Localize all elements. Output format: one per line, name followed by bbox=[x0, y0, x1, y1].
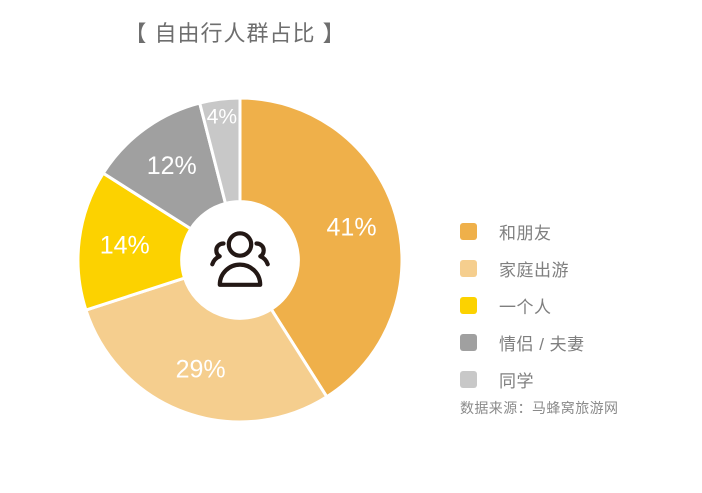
legend-item-label: 情侣 / 夫妻 bbox=[499, 330, 585, 355]
slice-value-label: 41% bbox=[327, 214, 377, 242]
legend-swatch-icon bbox=[460, 223, 477, 240]
slice-value-label: 12% bbox=[147, 152, 197, 180]
legend-item-label: 同学 bbox=[499, 367, 534, 392]
slice-value-label: 4% bbox=[207, 105, 237, 128]
legend-swatch-icon bbox=[460, 260, 477, 277]
legend-item-label: 家庭出游 bbox=[499, 256, 569, 281]
legend-swatch-icon bbox=[460, 297, 477, 314]
slice-value-label: 29% bbox=[176, 355, 226, 383]
donut-center-hub bbox=[182, 202, 298, 318]
legend: 和朋友家庭出游一个人情侣 / 夫妻同学 bbox=[460, 213, 690, 398]
source-note: 数据来源：马蜂窝旅游网 bbox=[460, 398, 618, 418]
legend-item-label: 一个人 bbox=[499, 293, 552, 318]
legend-item[interactable]: 情侣 / 夫妻 bbox=[460, 324, 690, 361]
legend-swatch-icon bbox=[460, 371, 477, 388]
slice-value-label: 14% bbox=[100, 231, 150, 259]
chart-canvas: 【 自由行人群占比 】 41%29%14%12%4% 和朋友家庭出游一个 bbox=[0, 0, 702, 493]
legend-item-label: 和朋友 bbox=[499, 219, 552, 244]
legend-swatch-icon bbox=[460, 334, 477, 351]
legend-item[interactable]: 家庭出游 bbox=[460, 250, 690, 287]
legend-item[interactable]: 一个人 bbox=[460, 287, 690, 324]
page-title: 【 自由行人群占比 】 bbox=[0, 16, 470, 48]
legend-item[interactable]: 和朋友 bbox=[460, 213, 690, 250]
donut-chart: 41%29%14%12%4% bbox=[78, 98, 402, 422]
people-group-icon bbox=[203, 225, 277, 295]
legend-item[interactable]: 同学 bbox=[460, 361, 690, 398]
